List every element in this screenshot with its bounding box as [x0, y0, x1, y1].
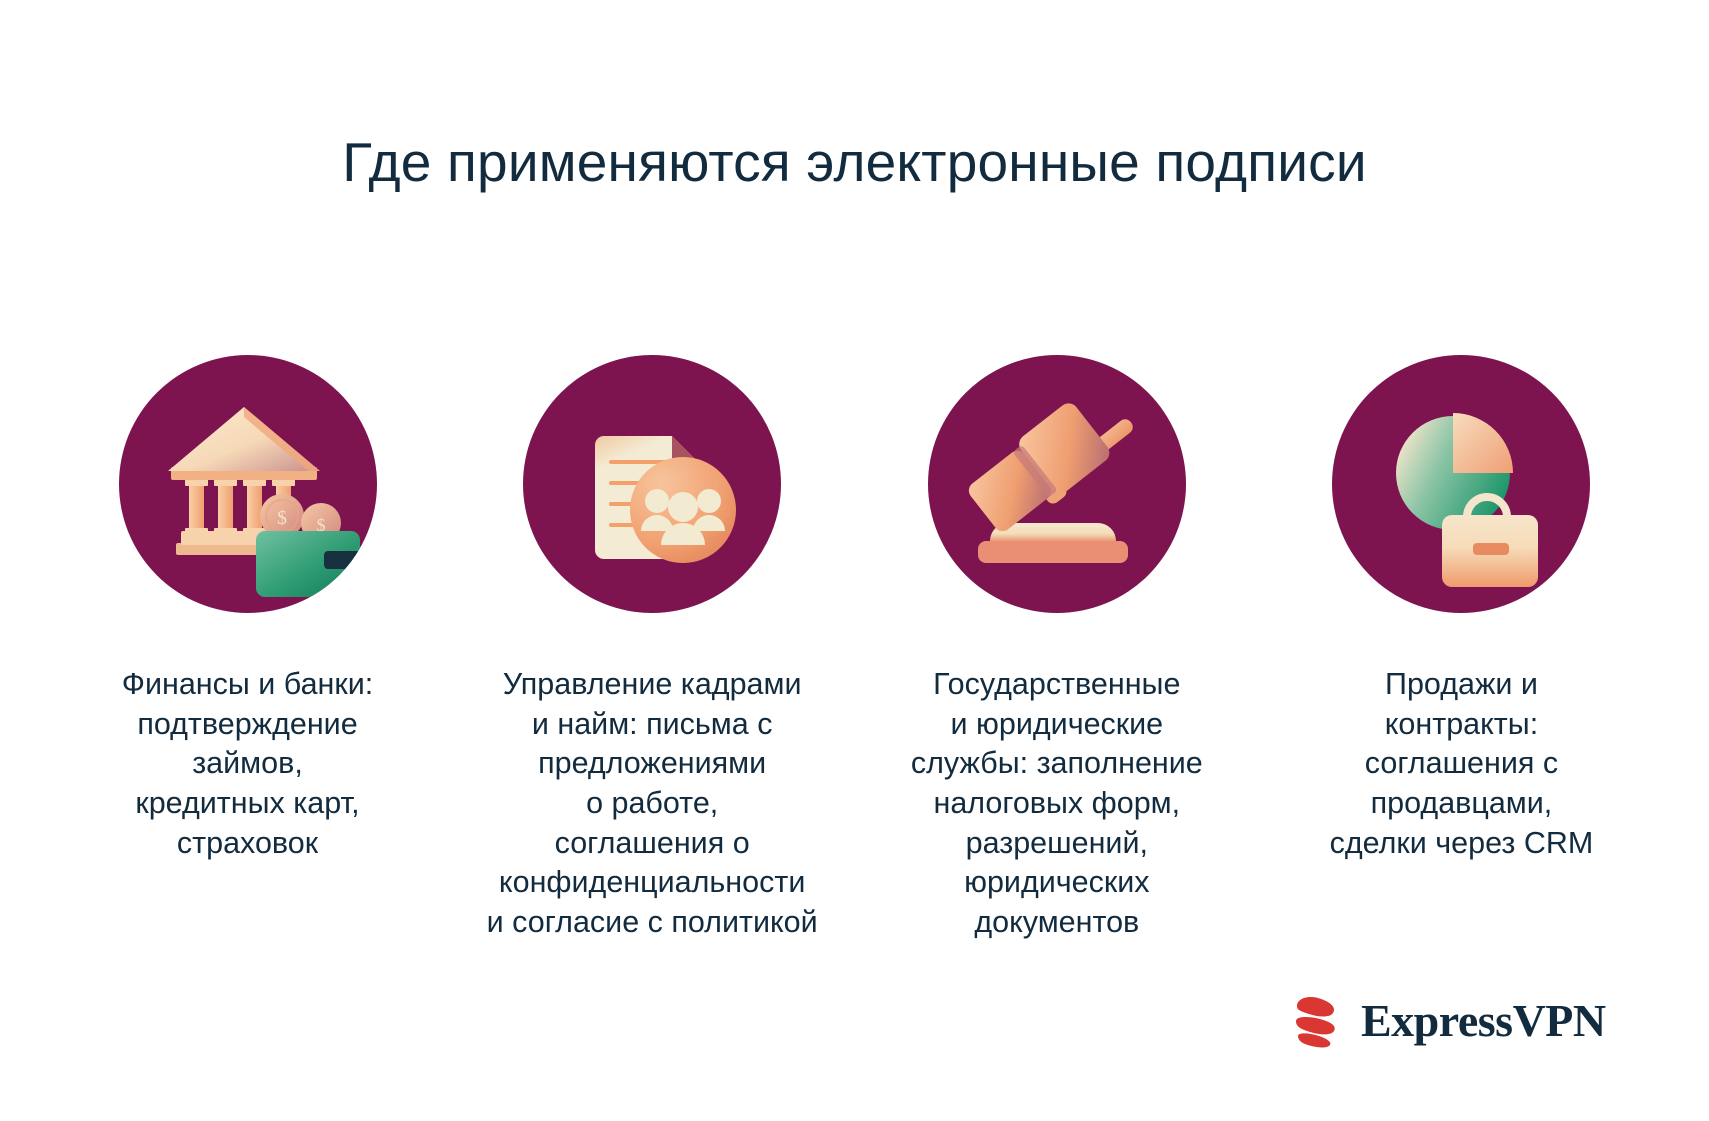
pie-chart-briefcase-icon — [1332, 355, 1590, 613]
svg-text:$: $ — [277, 507, 287, 529]
column-finance: $ $ Финансы и банки: подтверждение займо… — [60, 355, 435, 863]
bank-wallet-icon: $ $ — [119, 355, 377, 613]
column-caption: Государственные и юридические службы: за… — [877, 665, 1237, 942]
column-hr: Управление кадрами и найм: письма с пред… — [465, 355, 840, 942]
column-caption: Управление кадрами и найм: письма с пред… — [452, 665, 852, 942]
infographic-page: Где применяются электронные подписи — [0, 0, 1709, 1121]
document-people-icon — [523, 355, 781, 613]
expressvpn-logo-mark — [1285, 990, 1347, 1052]
expressvpn-wordmark: ExpressVPN — [1361, 998, 1606, 1044]
columns-container: $ $ Финансы и банки: подтверждение займо… — [60, 355, 1649, 942]
gavel-icon — [928, 355, 1186, 613]
column-caption: Финансы и банки: подтверждение займов, к… — [83, 665, 413, 863]
page-title: Где применяются электронные подписи — [0, 132, 1709, 193]
column-caption: Продажи и контракты: соглашения с продав… — [1296, 665, 1626, 863]
column-sales: Продажи и контракты: соглашения с продав… — [1274, 355, 1649, 863]
column-government: Государственные и юридические службы: за… — [869, 355, 1244, 942]
expressvpn-logo[interactable]: ExpressVPN — [1285, 990, 1606, 1052]
